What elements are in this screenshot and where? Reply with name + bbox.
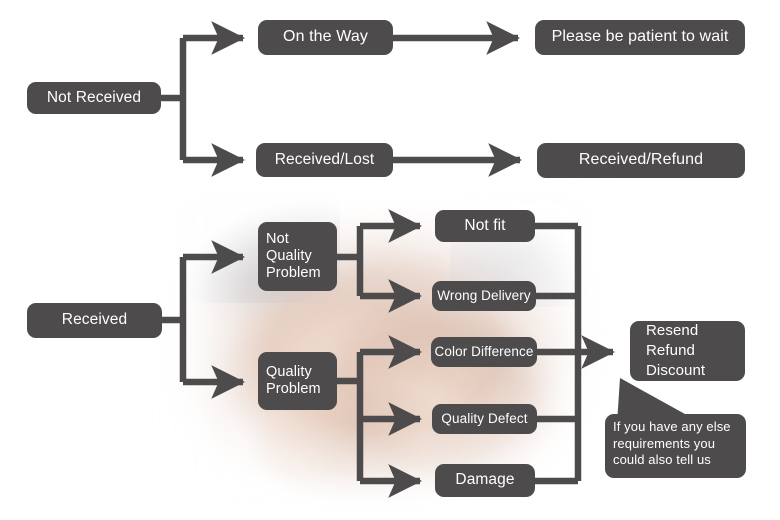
node-wrong-delivery[interactable]: Wrong Delivery xyxy=(432,281,536,311)
flowchart-canvas: Not Received On the Way Please be patien… xyxy=(0,0,780,520)
node-not-received[interactable]: Not Received xyxy=(27,82,161,114)
node-quality-problem[interactable]: Quality Problem xyxy=(258,352,337,410)
node-resend-refund-discount[interactable]: Resend Refund Discount xyxy=(630,321,745,381)
node-received-refund[interactable]: Received/Refund xyxy=(537,143,745,178)
node-on-the-way[interactable]: On the Way xyxy=(258,20,393,55)
node-please-be-patient-to-wait[interactable]: Please be patient to wait xyxy=(535,20,745,55)
node-not-quality-problem[interactable]: Not Quality Problem xyxy=(258,222,337,291)
node-quality-defect[interactable]: Quality Defect xyxy=(432,404,537,434)
callout-bubble[interactable]: If you have any else requirements you co… xyxy=(605,414,746,478)
node-received-lost[interactable]: Received/Lost xyxy=(256,143,393,177)
node-received[interactable]: Received xyxy=(27,303,162,338)
node-not-fit[interactable]: Not fit xyxy=(435,210,535,242)
node-color-difference[interactable]: Color Difference xyxy=(431,337,537,367)
node-damage[interactable]: Damage xyxy=(435,464,535,497)
